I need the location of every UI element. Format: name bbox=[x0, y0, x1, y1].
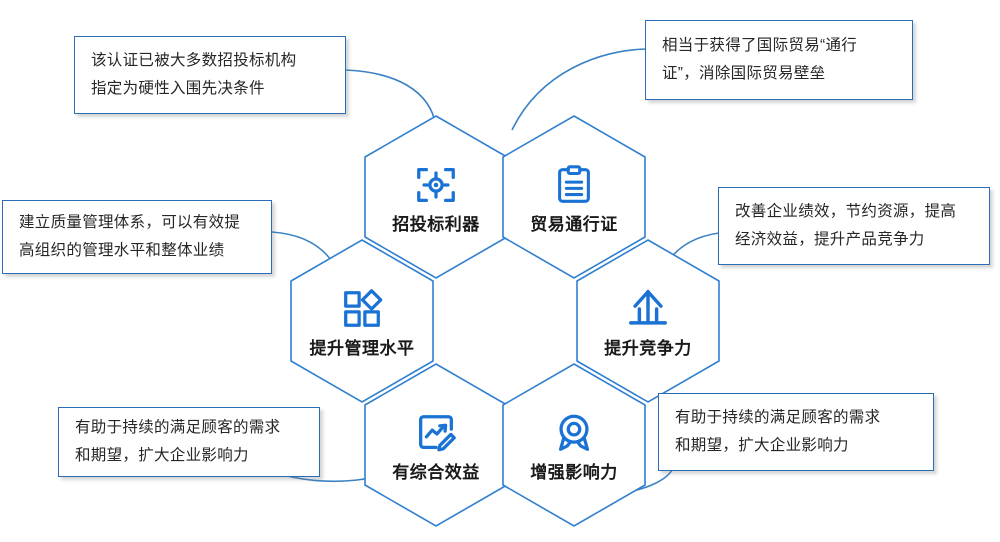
callout-bidding-text: 该认证已被大多数招投标机构 指定为硬性入围先决条件 bbox=[75, 47, 312, 103]
squares-diamond-icon bbox=[339, 286, 385, 332]
hex-node-influence[interactable]: 增强影响力 bbox=[500, 361, 648, 529]
target-scan-icon bbox=[413, 162, 459, 208]
callout-management: 建立质量管理体系，可以有效提 高组织的管理水平和整体业绩 bbox=[2, 200, 272, 274]
callout-benefits-text: 有助于持续的满足顾客的需求 和期望，扩大企业影响力 bbox=[59, 414, 296, 470]
callout-benefits: 有助于持续的满足顾客的需求 和期望，扩大企业影响力 bbox=[58, 407, 320, 477]
callout-influence-text: 有助于持续的满足顾客的需求 和期望，扩大企业影响力 bbox=[659, 404, 896, 460]
callout-competitiveness: 改善企业绩效，节约资源，提高 经济效益，提升产品竞争力 bbox=[718, 187, 990, 265]
callout-competitiveness-text: 改善企业绩效，节约资源，提高 经济效益，提升产品竞争力 bbox=[719, 198, 972, 254]
hex-node-benefits[interactable]: 有综合效益 bbox=[362, 361, 510, 529]
hex-label-influence: 增强影响力 bbox=[530, 464, 618, 481]
hex-label-trade-pass: 贸易通行证 bbox=[530, 216, 618, 233]
callout-influence: 有助于持续的满足顾客的需求 和期望，扩大企业影响力 bbox=[658, 393, 934, 471]
hex-label-management: 提升管理水平 bbox=[310, 340, 415, 357]
chart-edit-icon bbox=[413, 410, 459, 456]
callout-trade-pass-text: 相当于获得了国际贸易“通行 证”，消除国际贸易壁垒 bbox=[646, 32, 873, 88]
clipboard-icon bbox=[551, 162, 597, 208]
callout-bidding: 该认证已被大多数招投标机构 指定为硬性入围先决条件 bbox=[74, 36, 346, 114]
callout-trade-pass: 相当于获得了国际贸易“通行 证”，消除国际贸易壁垒 bbox=[645, 20, 913, 100]
hex-label-bidding: 招投标利器 bbox=[392, 216, 480, 233]
callout-management-text: 建立质量管理体系，可以有效提 高组织的管理水平和整体业绩 bbox=[3, 209, 256, 265]
diagram-canvas: 招投标利器 贸易通行证 bbox=[0, 0, 1000, 542]
hex-label-competitiveness: 提升竞争力 bbox=[604, 340, 692, 357]
growth-chart-arrow-icon bbox=[625, 286, 671, 332]
hex-label-benefits: 有综合效益 bbox=[392, 464, 480, 481]
award-medal-icon bbox=[551, 410, 597, 456]
